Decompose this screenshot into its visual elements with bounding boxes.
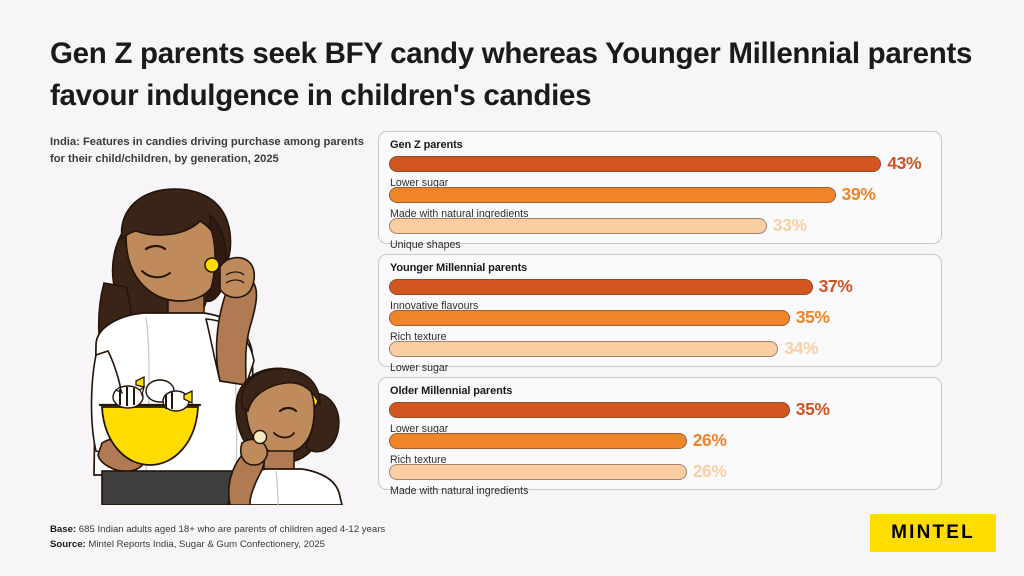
bar-track: 43% xyxy=(389,156,929,172)
bar-row: 37%Innovative flavours xyxy=(389,279,929,310)
bar-value-label: 35% xyxy=(796,309,830,327)
bar xyxy=(389,218,767,234)
bar-track: 39% xyxy=(389,187,929,203)
footer-source-label: Source: xyxy=(50,539,86,550)
bar-track: 26% xyxy=(389,433,929,449)
bar-value-label: 39% xyxy=(842,186,876,204)
bar-value-label: 33% xyxy=(773,217,807,235)
bar-value-label: 34% xyxy=(784,340,818,358)
bar-row: 33%Unique shapes xyxy=(389,218,929,249)
bar-row: 26%Made with natural ingredients xyxy=(389,464,929,495)
bar-value-label: 43% xyxy=(887,155,921,173)
bar-track: 26% xyxy=(389,464,929,480)
bar-row: 34%Lower sugar xyxy=(389,341,929,372)
bar xyxy=(389,464,687,480)
bar-value-label: 35% xyxy=(796,401,830,419)
bar-value-label: 26% xyxy=(693,463,727,481)
bar-chart: Gen Z parents43%Lower sugar39%Made with … xyxy=(378,131,942,500)
footer-source-line: Source: Mintel Reports India, Sugar & Gu… xyxy=(50,537,385,553)
bar-category-label: Made with natural ingredients xyxy=(390,486,929,497)
bar-track: 33% xyxy=(389,218,929,234)
group-title: Gen Z parents xyxy=(390,140,929,151)
bar xyxy=(389,156,881,172)
bar-row: 43%Lower sugar xyxy=(389,156,929,187)
group-title: Younger Millennial parents xyxy=(390,263,929,274)
mintel-logo: MINTEL xyxy=(870,514,996,552)
mintel-logo-text: MINTEL xyxy=(891,522,975,543)
generation-group: Younger Millennial parents37%Innovative … xyxy=(378,254,942,367)
bar-category-label: Unique shapes xyxy=(390,240,929,251)
bar-track: 34% xyxy=(389,341,929,357)
generation-group: Gen Z parents43%Lower sugar39%Made with … xyxy=(378,131,942,244)
bar-row: 35%Rich texture xyxy=(389,310,929,341)
bar xyxy=(389,341,778,357)
bar xyxy=(389,279,813,295)
bar-row: 35%Lower sugar xyxy=(389,402,929,433)
footer-base-label: Base: xyxy=(50,524,76,535)
bar-track: 35% xyxy=(389,310,929,326)
bar-row: 26%Rich texture xyxy=(389,433,929,464)
footer-base-line: Base: 685 Indian adults aged 18+ who are… xyxy=(50,522,385,538)
bar xyxy=(389,187,836,203)
bar xyxy=(389,310,790,326)
footer: Base: 685 Indian adults aged 18+ who are… xyxy=(50,522,385,553)
bar-track: 35% xyxy=(389,402,929,418)
bar xyxy=(389,402,790,418)
footer-source-text: Mintel Reports India, Sugar & Gum Confec… xyxy=(86,539,325,550)
page-title: Gen Z parents seek BFY candy whereas You… xyxy=(50,33,990,117)
bar-value-label: 37% xyxy=(819,278,853,296)
mother-and-child-with-candy-bowl-illustration xyxy=(80,175,380,505)
footer-base-text: 685 Indian adults aged 18+ who are paren… xyxy=(76,524,385,535)
bar-track: 37% xyxy=(389,279,929,295)
bar-category-label: Lower sugar xyxy=(390,363,929,374)
bar-row: 39%Made with natural ingredients xyxy=(389,187,929,218)
chart-subtitle: India: Features in candies driving purch… xyxy=(50,134,370,168)
header: Gen Z parents seek BFY candy whereas You… xyxy=(50,33,990,117)
bar xyxy=(389,433,687,449)
generation-group: Older Millennial parents35%Lower sugar26… xyxy=(378,377,942,490)
bar-value-label: 26% xyxy=(693,432,727,450)
group-title: Older Millennial parents xyxy=(390,386,929,397)
